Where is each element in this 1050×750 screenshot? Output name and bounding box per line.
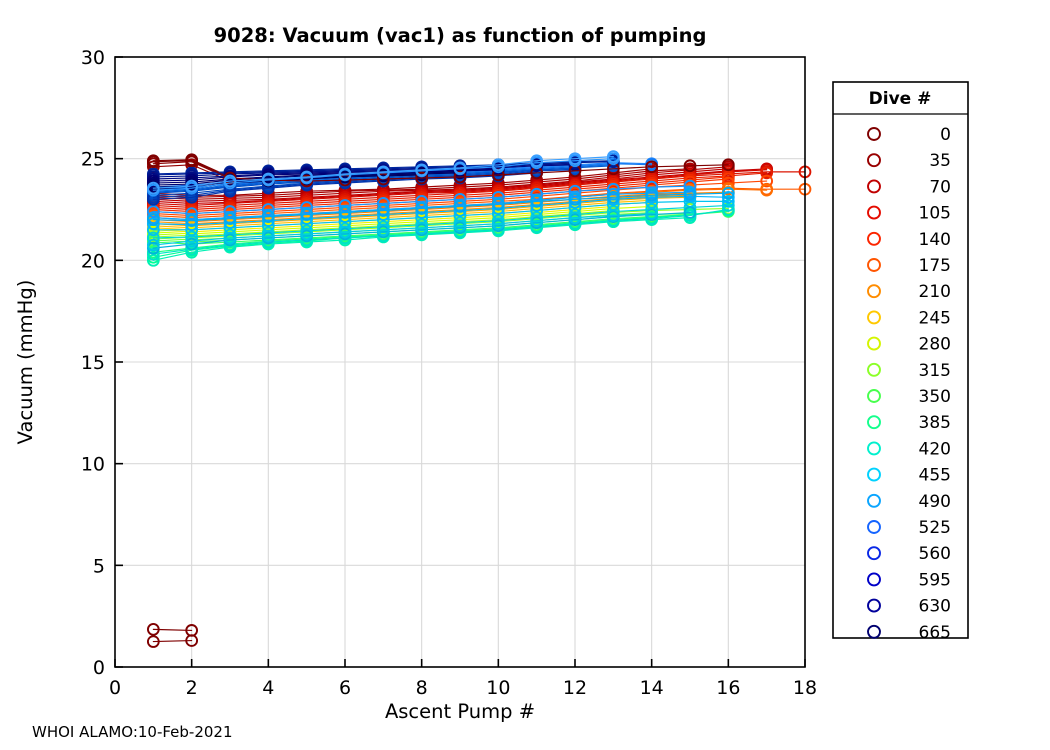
legend-label: 490 — [919, 492, 951, 512]
legend-label: 280 — [919, 335, 951, 355]
x-tick-label: 18 — [793, 677, 817, 699]
legend-label: 70 — [929, 177, 951, 197]
y-axis-label: Vacuum (mmHg) — [14, 280, 37, 445]
x-axis-label: Ascent Pump # — [385, 700, 535, 723]
legend-label: 560 — [919, 544, 951, 564]
legend-label: 0 — [940, 125, 951, 145]
chart-title: 9028: Vacuum (vac1) as function of pumpi… — [214, 24, 707, 47]
y-tick-label: 20 — [81, 250, 105, 272]
x-tick-label: 8 — [416, 677, 428, 699]
x-tick-label: 2 — [186, 677, 198, 699]
legend-label: 315 — [919, 361, 951, 381]
legend-label: 420 — [919, 439, 951, 459]
x-tick-label: 4 — [262, 677, 274, 699]
x-tick-label: 10 — [486, 677, 510, 699]
x-tick-label: 16 — [716, 677, 740, 699]
legend-label: 525 — [919, 518, 951, 538]
x-tick-label: 0 — [109, 677, 121, 699]
legend-label: 210 — [919, 282, 951, 302]
legend-label: 245 — [919, 308, 951, 328]
legend-label: 105 — [919, 204, 951, 224]
y-tick-label: 10 — [81, 454, 105, 476]
legend-label: 665 — [919, 623, 951, 643]
chart-page: 9028: Vacuum (vac1) as function of pumpi… — [0, 0, 1050, 750]
x-tick-label: 6 — [339, 677, 351, 699]
legend[interactable]: Dive # 035701051401752102452803153503854… — [833, 82, 968, 643]
vacuum-pumping-chart: 9028: Vacuum (vac1) as function of pumpi… — [0, 0, 1050, 750]
legend-label: 35 — [929, 151, 951, 171]
y-tick-label: 5 — [93, 555, 105, 577]
x-tick-label: 14 — [640, 677, 664, 699]
legend-label: 350 — [919, 387, 951, 407]
y-tick-label: 15 — [81, 352, 105, 374]
y-tick-label: 25 — [81, 149, 105, 171]
y-tick-label: 0 — [93, 657, 105, 679]
legend-label: 385 — [919, 413, 951, 433]
legend-label: 595 — [919, 570, 951, 590]
footer-credit: WHOI ALAMO:10-Feb-2021 — [32, 723, 233, 741]
legend-label: 630 — [919, 597, 951, 617]
legend-label: 140 — [919, 230, 951, 250]
legend-label: 175 — [919, 256, 951, 276]
x-tick-label: 12 — [563, 677, 587, 699]
y-tick-label: 30 — [81, 47, 105, 69]
legend-title: Dive # — [869, 89, 932, 109]
legend-label: 455 — [919, 466, 951, 486]
